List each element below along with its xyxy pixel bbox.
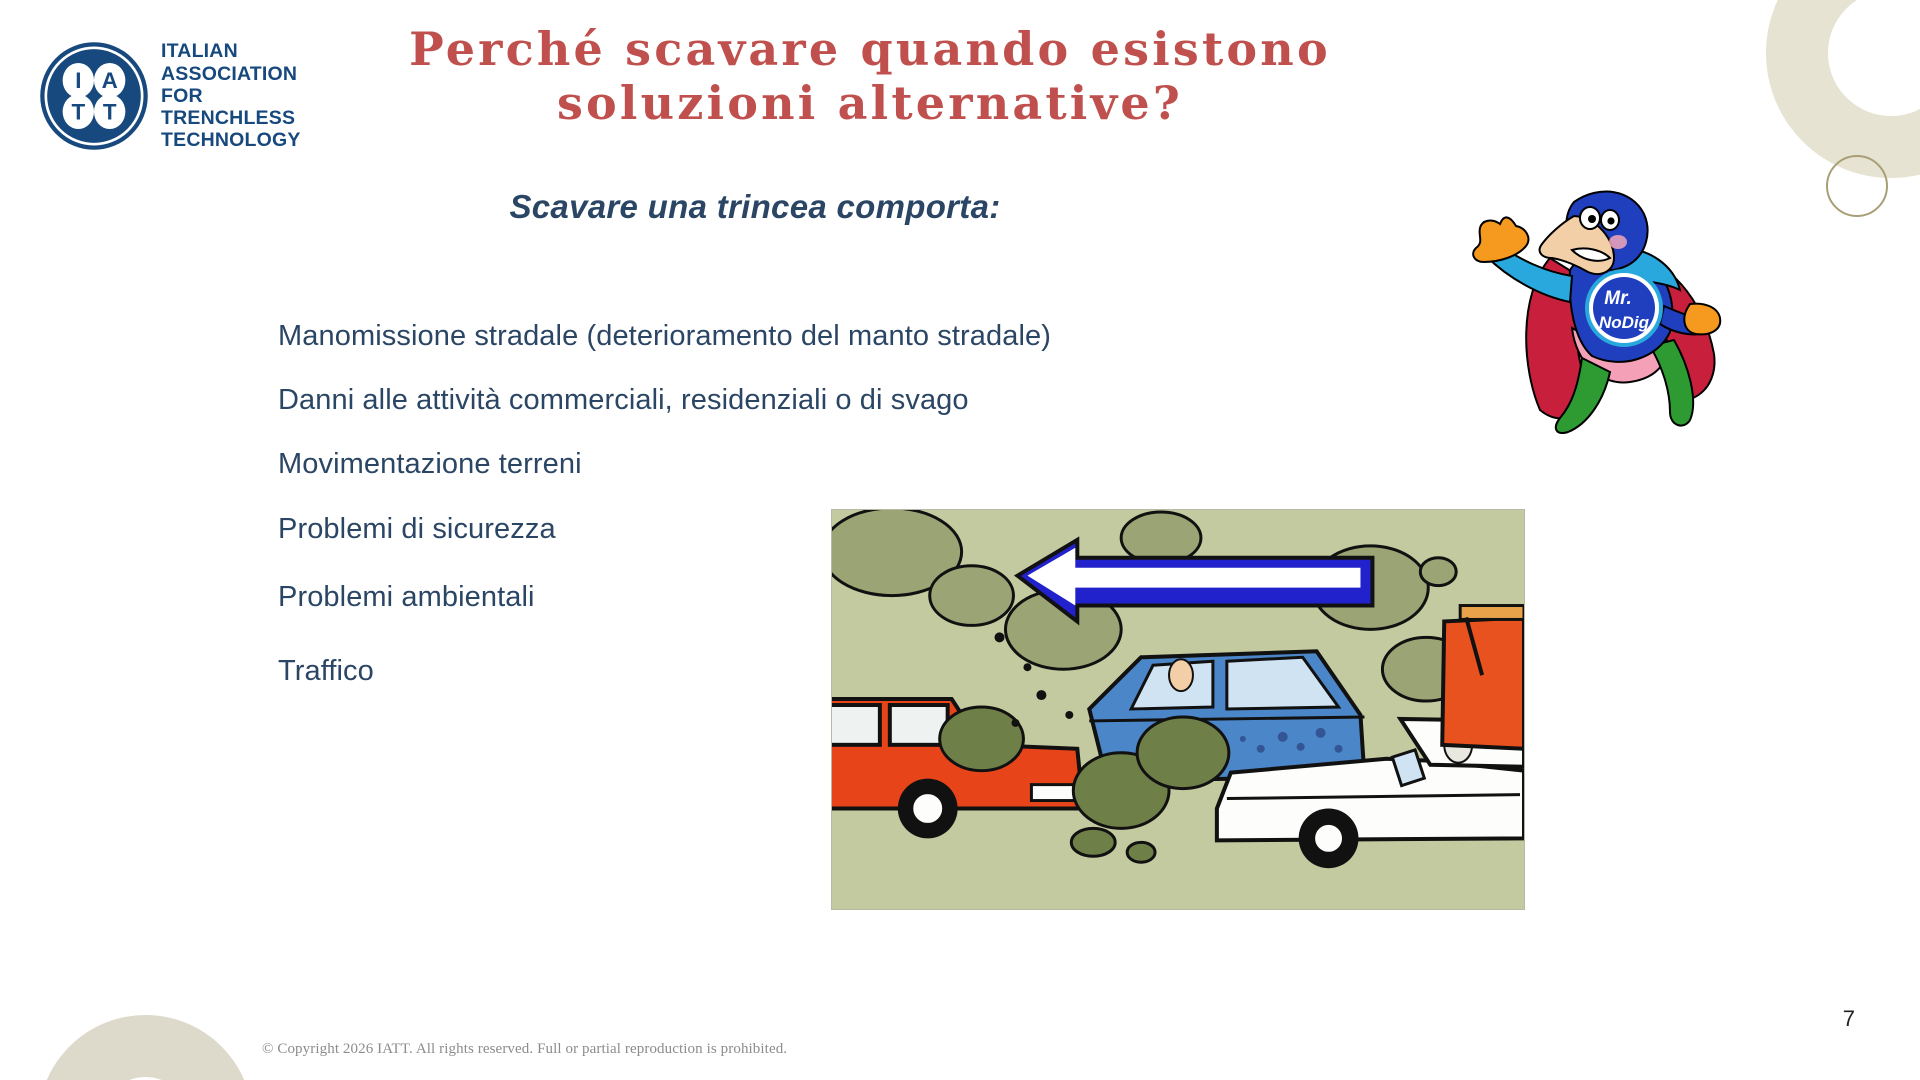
list-item: Danni alle attività commerciali, residen… [278, 384, 1178, 417]
logo-wordmark: ITALIAN ASSOCIATION FOR TRENCHLESS TECHN… [161, 40, 301, 151]
traffic-jam-illustration [831, 509, 1525, 910]
decorative-circle-outline-top-right [1826, 155, 1888, 217]
svg-text:A: A [102, 68, 118, 93]
footer-copyright: © Copyright 2026 IATT. All rights reserv… [262, 1041, 787, 1058]
iatt-logo: I A T T ITALIAN ASSOCIATION FOR TRENCHLE… [38, 40, 301, 152]
mascot-chest-logo-line-2: NoDig [1599, 313, 1650, 332]
svg-text:T: T [71, 100, 85, 125]
list-item: Manomissione stradale (deterioramento de… [278, 320, 1178, 353]
logo-line-5: TECHNOLOGY [161, 129, 301, 151]
page-number: 7 [1843, 1006, 1855, 1032]
logo-line-4: TRENCHLESS [161, 107, 301, 129]
mr-nodig-mascot-icon: Mr. NoDig [1422, 178, 1742, 446]
slide-title: Perché scavare quando esistono soluzioni… [300, 22, 1440, 131]
logo-line-1: ITALIAN [161, 40, 301, 62]
decorative-ring-bottom-left [38, 1015, 253, 1080]
svg-text:T: T [103, 100, 117, 125]
slide-title-line-2: alternative? [838, 76, 1183, 130]
mascot-chest-logo-line-1: Mr. [1604, 288, 1631, 309]
slide-canvas: I A T T ITALIAN ASSOCIATION FOR TRENCHLE… [0, 0, 1920, 1080]
iatt-emblem-icon: I A T T [38, 40, 150, 152]
svg-text:I: I [75, 68, 81, 93]
logo-line-2: ASSOCIATION [161, 63, 301, 85]
slide-subtitle: Scavare una trincea comporta: [300, 188, 1210, 226]
list-item: Movimentazione terreni [278, 448, 1178, 481]
logo-line-3: FOR [161, 85, 301, 107]
decorative-ring-top-right [1766, 0, 1920, 178]
